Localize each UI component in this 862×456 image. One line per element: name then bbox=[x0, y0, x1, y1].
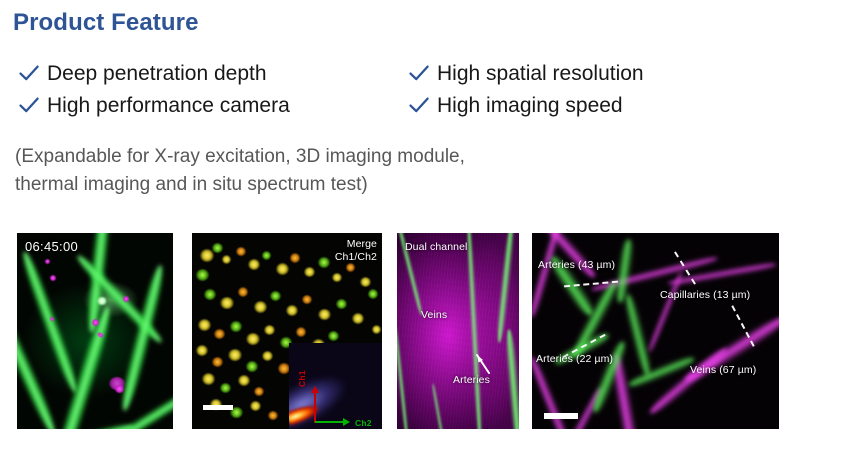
panel-dual-channel-vessels: Dual channel Veins Arteries bbox=[397, 233, 519, 429]
punctum bbox=[222, 255, 231, 264]
punctum bbox=[318, 309, 331, 320]
arteries-22-label: Arteries (22 µm) bbox=[536, 353, 613, 366]
punctum bbox=[196, 345, 208, 356]
feature-label: Deep penetration depth bbox=[47, 63, 267, 84]
feature-item-deep-penetration-depth: Deep penetration depth bbox=[17, 57, 407, 89]
expandable-note: (Expandable for X-ray excitation, 3D ima… bbox=[15, 143, 465, 199]
page-title: Product Feature bbox=[13, 9, 199, 37]
punctum bbox=[236, 247, 246, 256]
punctum bbox=[276, 263, 289, 275]
panel-green-vasculature-timelapse: 06:45:00 bbox=[17, 233, 173, 429]
punctum bbox=[238, 287, 248, 297]
veins-label: Veins bbox=[421, 309, 447, 322]
particle-marker bbox=[92, 319, 99, 326]
punctum bbox=[304, 267, 315, 277]
punctum bbox=[328, 331, 339, 341]
merge-channel-caption: Merge Ch1/Ch2 bbox=[335, 238, 377, 263]
punctum bbox=[302, 295, 312, 304]
arteries-43-label: Arteries (43 µm) bbox=[538, 259, 615, 272]
punctum bbox=[196, 269, 209, 281]
check-icon bbox=[17, 61, 41, 85]
punctum bbox=[214, 329, 225, 339]
timestamp-label: 06:45:00 bbox=[25, 239, 78, 254]
punctum bbox=[286, 305, 298, 316]
punctum bbox=[246, 361, 258, 372]
feature-label: High performance camera bbox=[47, 95, 290, 116]
particle-marker bbox=[123, 296, 129, 302]
feature-row: High performance camera High imaging spe… bbox=[17, 89, 837, 121]
punctum bbox=[368, 289, 378, 299]
image-panel-strip: 06:45:00 bbox=[0, 233, 862, 429]
punctum bbox=[198, 319, 211, 331]
punctum bbox=[212, 243, 223, 253]
punctum bbox=[230, 321, 242, 332]
particle-marker bbox=[115, 385, 124, 393]
ch1-axis-label: Ch1 bbox=[297, 370, 307, 387]
punctum bbox=[238, 375, 250, 386]
punctum bbox=[200, 249, 214, 262]
feature-list: Deep penetration depth High spatial reso… bbox=[17, 57, 837, 121]
punctum bbox=[290, 253, 300, 263]
check-icon bbox=[407, 93, 431, 117]
punctum bbox=[360, 277, 371, 287]
punctum bbox=[220, 297, 234, 309]
colocalization-scatter-inset: Ch1 Ch2 bbox=[289, 343, 382, 429]
punctum bbox=[264, 325, 275, 335]
punctum bbox=[220, 383, 231, 393]
feature-item-high-imaging-speed: High imaging speed bbox=[407, 89, 807, 121]
punctum bbox=[268, 411, 278, 420]
vessel-branch-node bbox=[97, 297, 107, 305]
arteries-label: Arteries bbox=[453, 374, 490, 387]
punctum bbox=[352, 313, 364, 324]
particle-marker bbox=[45, 259, 50, 264]
feature-label: High spatial resolution bbox=[437, 63, 644, 84]
punctum bbox=[254, 387, 264, 396]
panel-merge-channel-puncta: Ch1 Ch2 Merge Ch1/Ch2 bbox=[192, 233, 382, 429]
particle-marker bbox=[50, 317, 54, 321]
ch2-axis-label: Ch2 bbox=[355, 418, 372, 428]
punctum bbox=[336, 299, 347, 309]
punctum bbox=[372, 325, 381, 334]
punctum bbox=[346, 263, 355, 272]
punctum bbox=[228, 349, 242, 361]
punctum bbox=[332, 273, 342, 282]
punctum bbox=[262, 251, 271, 260]
punctum bbox=[202, 373, 215, 385]
particle-marker bbox=[50, 275, 56, 281]
feature-label: High imaging speed bbox=[437, 95, 623, 116]
punctum bbox=[262, 351, 273, 361]
punctum bbox=[248, 259, 260, 270]
punctum bbox=[250, 401, 261, 411]
scale-bar bbox=[544, 413, 578, 419]
punctum bbox=[204, 289, 216, 300]
punctum bbox=[212, 357, 223, 367]
check-icon bbox=[407, 61, 431, 85]
check-icon bbox=[17, 93, 41, 117]
punctum bbox=[296, 327, 306, 337]
capillaries-13-label: Capillaries (13 µm) bbox=[660, 289, 750, 302]
punctum bbox=[254, 301, 267, 313]
arteries-pointer-arrow bbox=[465, 343, 495, 375]
feature-item-high-performance-camera: High performance camera bbox=[17, 89, 407, 121]
panel-vessel-diameter-measurements: Arteries (43 µm) Capillaries (13 µm) Art… bbox=[532, 233, 779, 429]
punctum bbox=[270, 291, 281, 301]
scale-bar bbox=[203, 405, 233, 410]
feature-row: Deep penetration depth High spatial reso… bbox=[17, 57, 837, 89]
feature-item-high-spatial-resolution: High spatial resolution bbox=[407, 57, 807, 89]
veins-67-label: Veins (67 µm) bbox=[690, 364, 756, 377]
dual-channel-caption: Dual channel bbox=[405, 241, 468, 254]
punctum bbox=[318, 257, 330, 268]
punctum bbox=[246, 333, 260, 345]
